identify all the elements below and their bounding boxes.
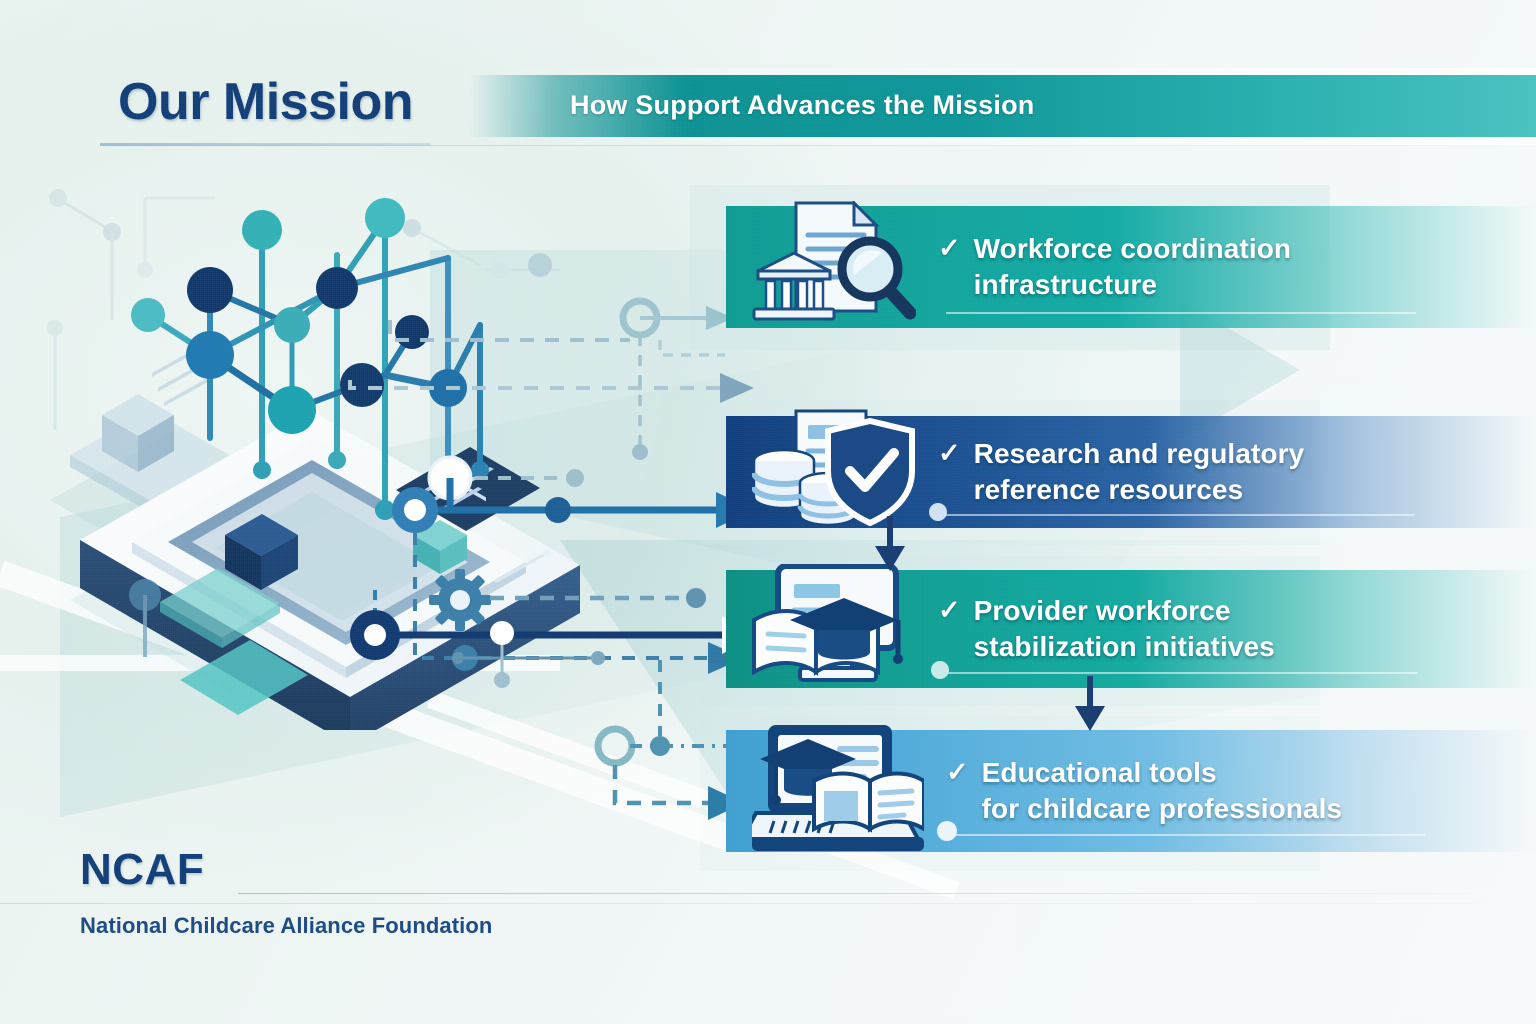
gear-icon xyxy=(429,569,491,631)
organization-name: National Childcare Alliance Foundation xyxy=(80,913,492,939)
bar-underline xyxy=(956,834,1426,836)
check-icon: ✓ xyxy=(938,593,961,628)
dashed-connector-1 xyxy=(390,301,734,460)
benefit-bar-educational-tools[interactable]: ✓ Educational tools for childcare profes… xyxy=(726,730,1536,852)
header-band-highlight xyxy=(470,137,1536,145)
bar-label: Workforce coordination infrastructure xyxy=(974,231,1292,303)
header-subtitle: How Support Advances the Mission xyxy=(570,90,1034,121)
bar-underline xyxy=(944,514,1414,516)
dashed-connector-4 xyxy=(598,660,744,820)
bar-node-dot xyxy=(926,500,950,524)
bar-text-group: ✓ Educational tools for childcare profes… xyxy=(946,755,1342,827)
logo-divider xyxy=(238,893,1468,894)
check-icon: ✓ xyxy=(938,436,961,471)
connector-network xyxy=(330,180,760,860)
step-arrow-down xyxy=(1070,676,1110,734)
check-icon: ✓ xyxy=(938,231,961,266)
header-band: How Support Advances the Mission xyxy=(470,75,1536,137)
benefit-bar-research-regulatory[interactable]: ✓ Research and regulatory reference reso… xyxy=(726,416,1536,528)
benefit-bar-provider-workforce[interactable]: ✓ Provider workforce stabilization initi… xyxy=(726,570,1536,688)
bar-label: Provider workforce stabilization initiat… xyxy=(974,593,1275,665)
logo-divider-thin xyxy=(0,903,1536,904)
page-title: Our Mission xyxy=(118,72,413,132)
gear-connector xyxy=(415,533,744,674)
solid-connector-2 xyxy=(392,457,754,533)
bar-underline xyxy=(946,312,1416,314)
document-magnifier-bank-icon xyxy=(752,201,916,334)
step-arrow-down xyxy=(870,516,910,574)
bar-node-dot xyxy=(934,818,960,844)
dashed-connector-long xyxy=(350,373,754,403)
title-underline-thin xyxy=(100,145,1500,146)
open-book-icon xyxy=(814,773,924,829)
bar-text-group: ✓ Provider workforce stabilization initi… xyxy=(938,593,1275,665)
benefit-bar-workforce-coordination[interactable]: ✓ Workforce coordination infrastructure xyxy=(726,206,1536,328)
bar-text-group: ✓ Workforce coordination infrastructure xyxy=(938,231,1291,303)
bar-label: Educational tools for childcare professi… xyxy=(982,755,1343,827)
bar-text-group: ✓ Research and regulatory reference reso… xyxy=(938,436,1304,508)
bar-label: Research and regulatory reference resour… xyxy=(974,436,1305,508)
check-icon: ✓ xyxy=(946,755,969,790)
bar-underline xyxy=(948,672,1418,674)
laptop-graduation-book-icon xyxy=(752,723,924,860)
infographic-canvas: How Support Advances the Mission Our Mis… xyxy=(0,0,1536,1024)
bar-node-dot xyxy=(928,658,952,682)
logo-mark: NCAF xyxy=(80,845,204,895)
header-band-highlight xyxy=(470,68,1536,75)
book-graduation-cap-icon xyxy=(752,564,916,695)
